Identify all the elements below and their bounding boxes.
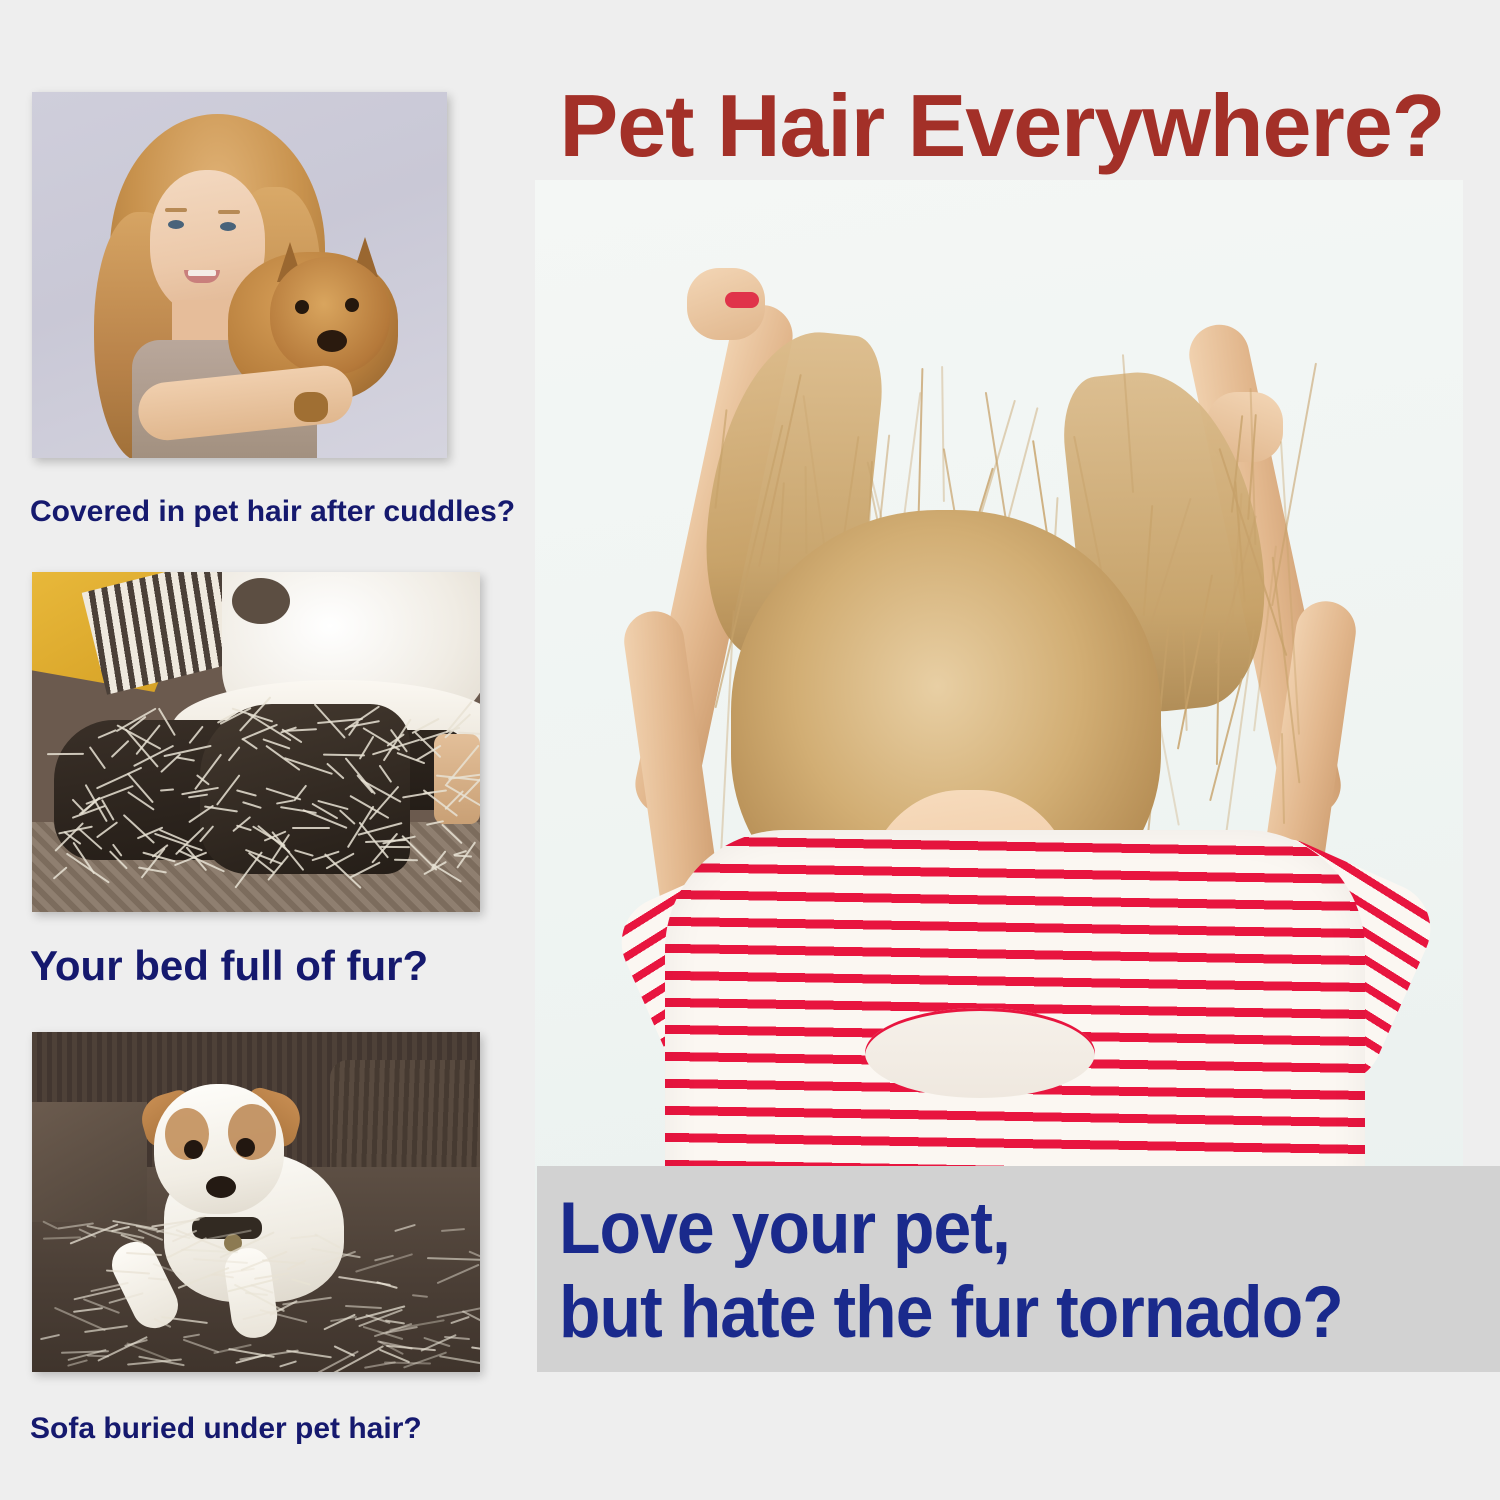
photo-girl-hugging-yorkshire-terrier xyxy=(32,92,447,458)
poster-canvas: Pet Hair Everywhere? Covered in pet hair… xyxy=(0,0,1500,1500)
red-fingernails xyxy=(725,292,759,308)
yorkie-eye-right xyxy=(345,298,359,312)
girl-teeth xyxy=(188,270,216,276)
banner-line-1: Love your pet, xyxy=(559,1192,1010,1265)
photo-frustrated-woman-pulling-hair xyxy=(535,180,1463,1300)
draped-neckline xyxy=(865,1008,1095,1098)
cat-dark-patch xyxy=(232,578,290,624)
caption-photo-2: Your bed full of fur? xyxy=(30,942,428,990)
girl-eyebrow-left xyxy=(165,208,187,212)
page-title: Pet Hair Everywhere? xyxy=(518,78,1486,174)
banner-line-2: but hate the fur tornado? xyxy=(559,1276,1343,1349)
yorkie-head xyxy=(270,257,390,375)
yorkie-eye-left xyxy=(295,300,309,314)
caption-photo-1: Covered in pet hair after cuddles? xyxy=(30,495,515,529)
yorkie-nose xyxy=(317,330,347,352)
terrier-eye-left xyxy=(184,1140,203,1159)
terrier-nose xyxy=(206,1176,236,1198)
caption-photo-3: Sofa buried under pet hair? xyxy=(30,1412,422,1446)
photo-jack-russell-on-furry-sofa xyxy=(32,1032,480,1372)
bottom-banner: Love your pet, but hate the fur tornado? xyxy=(537,1166,1500,1372)
girl-eyebrow-right xyxy=(218,210,240,214)
terrier-eye-right xyxy=(236,1138,255,1157)
photo-black-socks-covered-in-pet-hair xyxy=(32,572,480,912)
girl-eye-right xyxy=(220,222,236,231)
yorkie-paw xyxy=(294,392,328,422)
girl-eye-left xyxy=(168,220,184,229)
sofa-armrest xyxy=(32,1102,147,1222)
